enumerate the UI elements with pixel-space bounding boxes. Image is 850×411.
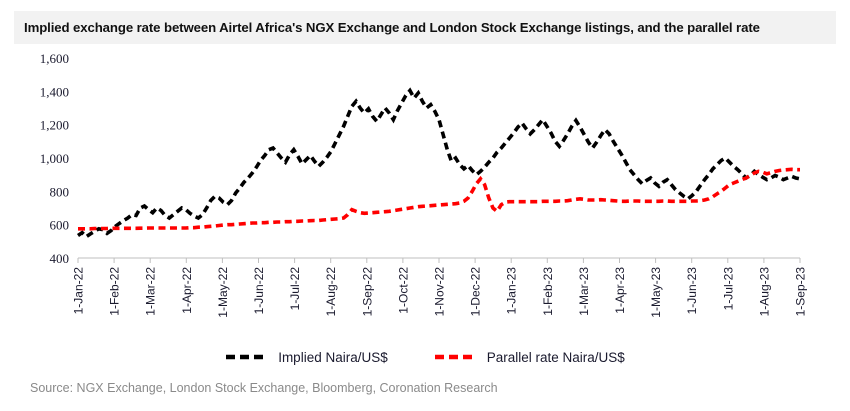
series-line-implied bbox=[78, 91, 800, 237]
chart-plot-area: 4006008001,0001,2001,4001,6001-Jan-221-F… bbox=[0, 44, 850, 344]
x-axis-tick-label: 1-Apr-23 bbox=[613, 267, 627, 314]
x-axis-tick-label: 1-Jul-23 bbox=[721, 267, 735, 311]
series-line-parallel bbox=[78, 169, 800, 229]
x-axis-tick-label: 1-Dec-22 bbox=[469, 267, 483, 317]
legend-item-implied[interactable]: Implied Naira/US$ bbox=[225, 350, 388, 365]
x-axis-tick-label: 1-Aug-22 bbox=[324, 267, 338, 317]
x-axis-tick-label: 1-Apr-22 bbox=[180, 267, 194, 314]
chart-svg: 4006008001,0001,2001,4001,6001-Jan-221-F… bbox=[0, 44, 850, 344]
x-axis-tick-label: 1-Mar-23 bbox=[577, 267, 591, 316]
x-axis-tick-label: 1-Jun-22 bbox=[252, 267, 266, 315]
x-axis-tick-label: 1-Oct-22 bbox=[396, 267, 410, 314]
legend-item-parallel[interactable]: Parallel rate Naira/US$ bbox=[434, 350, 625, 365]
x-axis-tick-label: 1-Sep-23 bbox=[794, 267, 808, 317]
x-axis-tick-label: 1-Jan-22 bbox=[72, 267, 86, 315]
x-axis-tick-label: 1-Feb-23 bbox=[541, 267, 555, 316]
y-axis-tick-label: 1,400 bbox=[40, 84, 69, 99]
legend-swatch-implied-icon bbox=[225, 352, 269, 362]
x-axis-tick-label: 1-Jul-22 bbox=[288, 267, 302, 311]
x-axis-tick-label: 1-Nov-22 bbox=[433, 267, 447, 317]
y-axis-tick-label: 1,600 bbox=[40, 51, 69, 66]
x-axis-tick-label: 1-Aug-23 bbox=[757, 267, 771, 317]
y-axis-tick-label: 600 bbox=[50, 218, 70, 233]
chart-legend: Implied Naira/US$ Parallel rate Naira/US… bbox=[0, 344, 850, 370]
y-axis-tick-label: 1,000 bbox=[40, 151, 69, 166]
x-axis-tick-label: 1-Jun-23 bbox=[685, 267, 699, 315]
x-axis-tick-label: 1-May-23 bbox=[649, 267, 663, 318]
y-axis-tick-label: 1,200 bbox=[40, 118, 69, 133]
x-axis-tick-label: 1-Sep-22 bbox=[360, 267, 374, 317]
x-axis-tick-label: 1-Mar-22 bbox=[144, 267, 158, 316]
x-axis-tick-label: 1-Feb-22 bbox=[108, 267, 122, 316]
page-title: Implied exchange rate between Airtel Afr… bbox=[14, 20, 760, 35]
source-note: Source: NGX Exchange, London Stock Excha… bbox=[30, 381, 498, 395]
y-axis-tick-label: 400 bbox=[50, 251, 70, 266]
x-axis-tick-label: 1-Jan-23 bbox=[505, 267, 519, 315]
chart-title-band: Implied exchange rate between Airtel Afr… bbox=[14, 11, 836, 44]
legend-label-parallel: Parallel rate Naira/US$ bbox=[487, 350, 625, 365]
y-axis-tick-label: 800 bbox=[50, 184, 70, 199]
x-axis-tick-label: 1-May-22 bbox=[216, 267, 230, 318]
legend-swatch-parallel-icon bbox=[434, 352, 478, 362]
legend-label-implied: Implied Naira/US$ bbox=[278, 350, 388, 365]
